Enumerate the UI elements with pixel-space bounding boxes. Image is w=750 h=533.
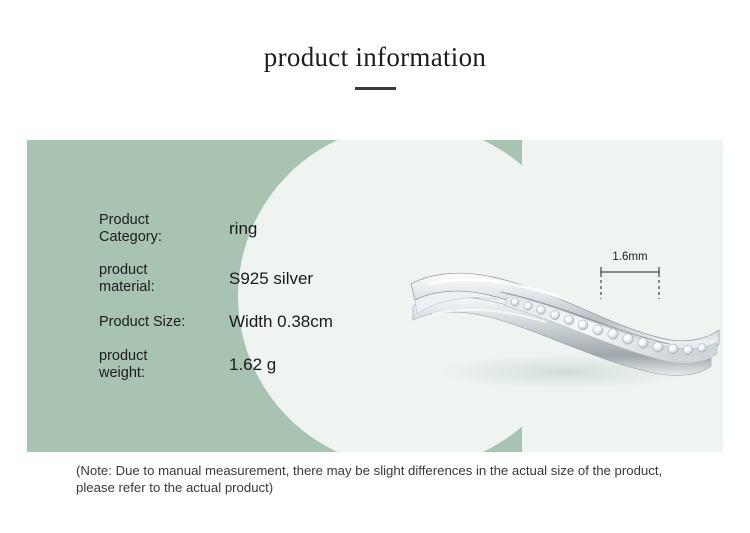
measurement-note: (Note: Due to manual measurement, there …: [76, 462, 686, 496]
product-photo-ring: [389, 240, 723, 400]
title-underline-rule: [355, 87, 396, 90]
spec-list: Product Category: ring product material:…: [99, 212, 399, 382]
product-info-panel: Product Category: ring product material:…: [27, 140, 723, 452]
spec-value-weight: 1.62 g: [229, 355, 276, 375]
spec-value-size: Width 0.38cm: [229, 312, 333, 332]
spec-row-size: Product Size: Width 0.38cm: [99, 312, 399, 332]
spec-row-weight: product weight: 1.62 g: [99, 348, 399, 382]
page-title: product information: [0, 40, 750, 74]
spec-label-size: Product Size:: [99, 314, 229, 331]
spec-row-material: product material: S925 silver: [99, 262, 399, 296]
spec-label-weight: product weight:: [99, 348, 229, 382]
spec-value-category: ring: [229, 219, 257, 239]
spec-label-material: product material:: [99, 262, 229, 296]
spec-row-category: Product Category: ring: [99, 212, 399, 246]
spec-label-category: Product Category:: [99, 212, 229, 246]
spec-value-material: S925 silver: [229, 269, 313, 289]
